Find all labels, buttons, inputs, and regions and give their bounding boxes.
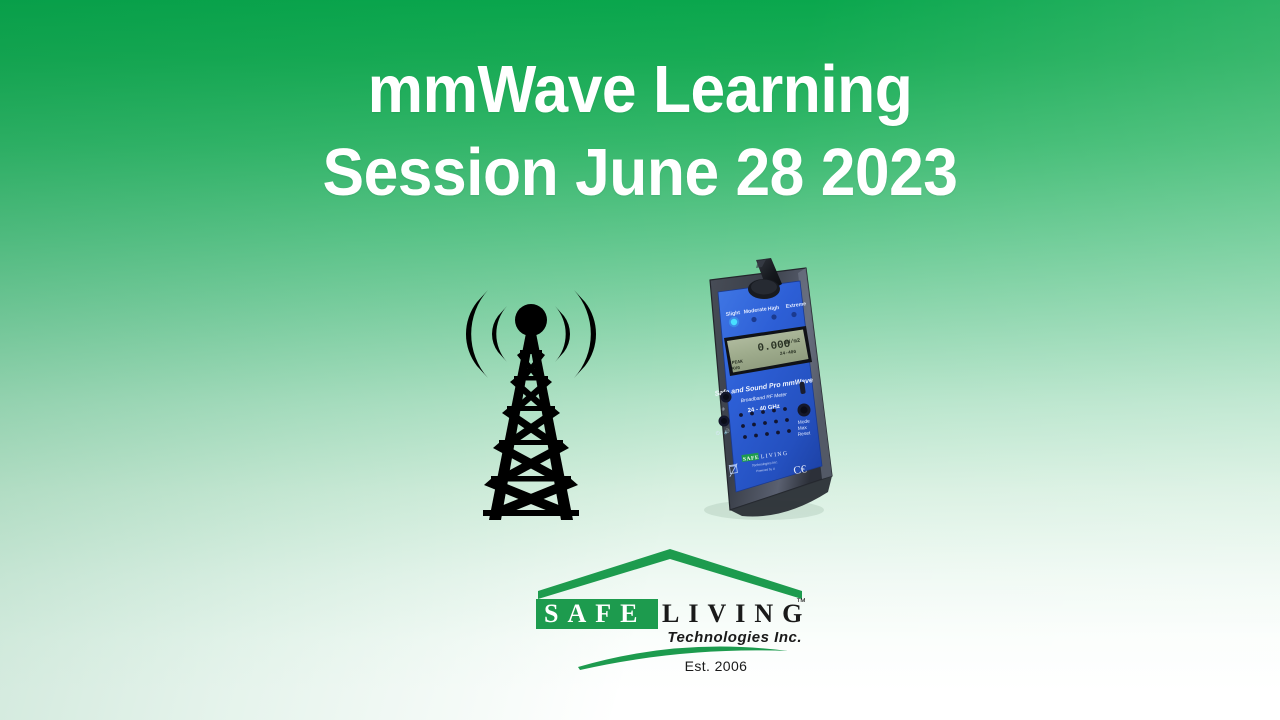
safe-living-technologies-logo: SAFE LIVING ™ Technologies Inc. Est. 200… (520, 543, 820, 673)
title-line-2: Session June 28 2023 (45, 131, 1235, 214)
title-line-1: mmWave Learning (45, 48, 1235, 131)
cell-tower-icon (436, 258, 626, 524)
slide-title: mmWave Learning Session June 28 2023 (0, 48, 1280, 214)
logo-word-safe: SAFE (544, 599, 646, 628)
logo-established: Est. 2006 (685, 658, 748, 673)
logo-trademark-icon: ™ (796, 597, 806, 608)
svg-text:C€: C€ (793, 463, 808, 477)
rf-meter-photo: Slight Moderate High Extreme 0.000 mW/m2… (672, 258, 848, 526)
logo-word-living: LIVING (662, 599, 811, 628)
presentation-slide: mmWave Learning Session June 28 2023 (0, 0, 1280, 720)
svg-text:AVG: AVG (731, 365, 740, 372)
logo-tagline: Technologies Inc. (667, 629, 802, 646)
